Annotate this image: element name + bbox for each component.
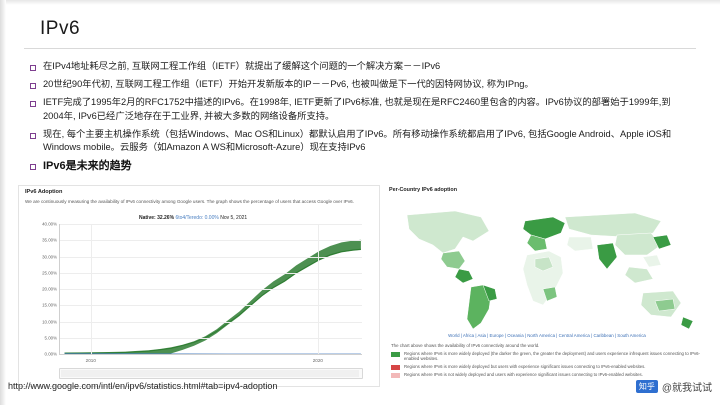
legend-swatch-green xyxy=(391,352,400,357)
y-tick-label: 35.00% xyxy=(42,238,57,243)
x-tick-label: 2020 xyxy=(313,358,323,363)
chart-plot-area xyxy=(59,224,362,355)
legend-native-value: 32.26% xyxy=(157,215,174,221)
gridline xyxy=(60,305,362,306)
bullet-text: 20世纪90年代初, 互联网工程工作组（IETF）开始开发新版本的IP－－Pv6… xyxy=(43,78,534,91)
title-divider xyxy=(24,48,696,49)
y-tick-label: 40.00% xyxy=(42,222,57,227)
bullet-text: 现在, 每个主要主机操作系统（包括Windows、Mac OS和Linux）都默… xyxy=(43,128,690,154)
legend-6to4-label: 6to4/Teredo: xyxy=(175,215,203,221)
chart-legend: Native: 32.26% 6to4/Teredo: 0.00% Nov 5,… xyxy=(139,215,247,221)
list-item: 20世纪90年代初, 互联网工程工作组（IETF）开始开发新版本的IP－－Pv6… xyxy=(30,78,690,91)
gridline xyxy=(60,224,362,225)
y-tick-label: 0.00% xyxy=(45,352,57,357)
map-legend-row: Regions where IPv6 is more widely deploy… xyxy=(391,351,703,362)
gridline xyxy=(60,354,362,355)
watermark: 知乎 @就我试试 xyxy=(636,379,712,394)
legend-text: Regions where IPv6 is not widely deploye… xyxy=(404,372,643,377)
gridline xyxy=(60,338,362,339)
bullet-list: 在IPv4地址耗尽之前, 互联网工程工作组（IETF）就提出了缓解这个问题的一个… xyxy=(30,60,690,180)
map-description: The chart above shows the availability o… xyxy=(391,343,703,348)
bullet-text: IETF完成了1995年2月的RFC1752中描述的IPv6。在1998年, I… xyxy=(43,96,690,122)
legend-date: Nov 5, 2021 xyxy=(220,215,247,221)
bullet-square-icon xyxy=(30,101,36,107)
ipv6-adoption-chart: IPv6 Adoption We are continuously measur… xyxy=(18,185,380,387)
legend-swatch-red xyxy=(391,365,400,370)
y-tick-label: 20.00% xyxy=(42,287,57,292)
y-tick-label: 30.00% xyxy=(42,254,57,259)
chart-range-scrollbar[interactable] xyxy=(59,368,363,379)
zhihu-badge: 知乎 xyxy=(636,380,658,393)
page-title: IPv6 xyxy=(40,18,80,40)
map-title: Per-Country IPv6 adoption xyxy=(389,187,457,193)
gridline xyxy=(60,240,362,241)
list-item: IETF完成了1995年2月的RFC1752中描述的IPv6。在1998年, I… xyxy=(30,96,690,122)
gridline-vertical xyxy=(91,224,92,354)
bullet-square-icon xyxy=(30,65,36,71)
legend-6to4-value: 0.00% xyxy=(205,215,219,221)
world-map-svg xyxy=(385,197,705,337)
bullet-text: 在IPv4地址耗尽之前, 互联网工程工作组（IETF）就提出了缓解这个问题的一个… xyxy=(43,60,440,73)
gridline-vertical xyxy=(318,224,319,354)
legend-text: Regions where IPv6 is more widely deploy… xyxy=(404,351,703,362)
map-legend-row: Regions where IPv6 is not widely deploye… xyxy=(391,372,703,378)
gridline xyxy=(60,289,362,290)
slide: IPv6 在IPv4地址耗尽之前, 互联网工程工作组（IETF）就提出了缓解这个… xyxy=(0,0,720,405)
map-legend: Regions where IPv6 is more widely deploy… xyxy=(391,351,703,380)
left-shadow xyxy=(0,0,6,405)
source-url[interactable]: http://www.google.com/intl/en/ipv6/stati… xyxy=(8,381,277,391)
map-legend-row: Regions where IPv6 is more widely deploy… xyxy=(391,364,703,370)
legend-native-label: Native: xyxy=(139,215,156,221)
chart-range-scrollbar-thumb[interactable] xyxy=(61,370,359,377)
legend-text: Regions where IPv6 is more widely deploy… xyxy=(404,364,645,369)
watermark-text: @就我试试 xyxy=(662,379,712,394)
per-country-ipv6-map: Per-Country IPv6 adoption xyxy=(385,185,705,385)
bullet-text: IPv6是未来的趋势 xyxy=(43,159,132,175)
legend-swatch-pink xyxy=(391,373,400,378)
list-item: 在IPv4地址耗尽之前, 互联网工程工作组（IETF）就提出了缓解这个问题的一个… xyxy=(30,60,690,73)
y-tick-label: 25.00% xyxy=(42,270,57,275)
y-tick-label: 15.00% xyxy=(42,303,57,308)
bullet-square-icon xyxy=(30,164,36,170)
bullet-square-icon xyxy=(30,133,36,139)
gridline xyxy=(60,257,362,258)
map-region-links[interactable]: World | Africa | Asia | Europe | Oceania… xyxy=(391,333,703,338)
x-tick-label: 2010 xyxy=(86,358,96,363)
chart-subtitle: We are continuously measuring the availa… xyxy=(25,199,371,206)
gridline xyxy=(60,273,362,274)
y-tick-label: 10.00% xyxy=(42,319,57,324)
y-tick-label: 5.00% xyxy=(45,335,57,340)
list-item-trend: IPv6是未来的趋势 xyxy=(30,159,690,175)
top-shadow xyxy=(0,0,720,5)
map-canvas[interactable] xyxy=(385,197,705,337)
list-item: 现在, 每个主要主机操作系统（包括Windows、Mac OS和Linux）都默… xyxy=(30,128,690,154)
chart-title: IPv6 Adoption xyxy=(25,189,62,195)
gridline xyxy=(60,322,362,323)
bullet-square-icon xyxy=(30,83,36,89)
